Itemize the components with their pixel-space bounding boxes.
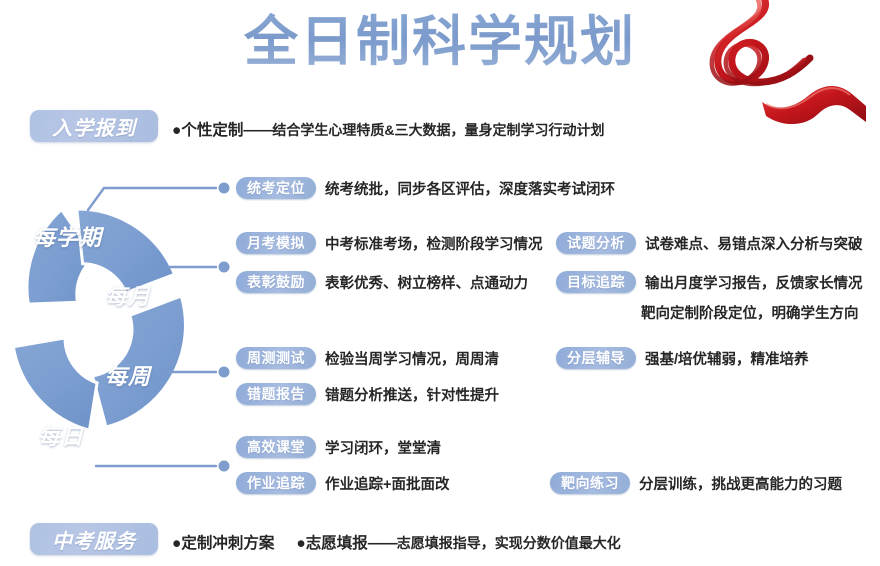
desc-month-right-0: 试卷难点、易错点深入分析与突破	[645, 233, 863, 254]
tag-month-right-0[interactable]: 试题分析	[556, 232, 636, 254]
desc-week-left-0: 检验当周学习情况，周周清	[325, 348, 499, 369]
item-row-month-right-1: 目标追踪 输出月度学习报告，反馈家长情况	[556, 271, 863, 293]
tag-month-left-0[interactable]: 月考模拟	[236, 232, 316, 254]
desc-month-left-1: 表彰优秀、树立榜样、点通动力	[325, 272, 528, 293]
desc-day-left-1: 作业追踪+面批面改	[325, 473, 449, 494]
headline-bottom-item2-title: 志愿填报	[306, 535, 368, 552]
headline-enrollment: ●个性定制——结合学生心理特质&三大数据，量身定制学习行动计划	[172, 118, 605, 140]
tag-semester-0[interactable]: 统考定位	[236, 177, 316, 199]
item-row-month-left-0: 月考模拟 中考标准考场，检测阶段学习情况	[236, 232, 543, 254]
desc-day-left-0: 学习闭环，堂堂清	[325, 437, 441, 458]
item-row-week-left-1: 错题报告 错题分析推送，针对性提升	[236, 383, 499, 405]
item-row-day-left-1: 作业追踪 作业追踪+面批面改	[236, 472, 449, 494]
desc-month-left-0: 中考标准考场，检测阶段学习情况	[325, 233, 543, 254]
badge-exam-service[interactable]: 中考服务	[30, 523, 158, 555]
tag-month-left-1[interactable]: 表彰鼓励	[236, 271, 316, 293]
bullet-glyph: ●	[172, 122, 181, 139]
badge-enrollment[interactable]: 入学报到	[30, 110, 158, 142]
tag-month-right-1[interactable]: 目标追踪	[556, 271, 636, 293]
item-row-day-left-0: 高效课堂 学习闭环，堂堂清	[236, 436, 441, 458]
item-row-day-right-0: 靶向练习 分层训练，挑战更高能力的习题	[550, 472, 842, 494]
tag-day-left-1[interactable]: 作业追踪	[236, 472, 316, 494]
page-title: 全日制科学规划	[0, 6, 880, 78]
arc-label-semester: 每学期	[33, 220, 102, 252]
desc-semester-0: 统考统批，同步各区评估，深度落实考试闭环	[325, 178, 615, 199]
headline-bottom: ●定制冲刺方案●志愿填报——志愿填报指导，实现分数价值最大化	[172, 531, 621, 553]
desc-day-right-0: 分层训练，挑战更高能力的习题	[639, 473, 842, 494]
arc-label-week: 每周	[105, 359, 151, 391]
headline-bottom-item1: 定制冲刺方案	[181, 535, 274, 552]
tag-day-right-0[interactable]: 靶向练习	[550, 472, 630, 494]
desc-month-right-1-line2: 靶向定制阶段定位，明确学生方向	[641, 302, 859, 323]
tag-week-left-0[interactable]: 周测测试	[236, 347, 316, 369]
item-row-week-left-0: 周测测试 检验当周学习情况，周周清	[236, 347, 499, 369]
bullet-glyph-1: ●	[172, 535, 181, 552]
item-row-month-right-0: 试题分析 试卷难点、易错点深入分析与突破	[556, 232, 863, 254]
item-row-month-left-1: 表彰鼓励 表彰优秀、树立榜样、点通动力	[236, 271, 528, 293]
arc-svg	[0, 160, 230, 490]
arc-label-month: 每月	[105, 279, 151, 311]
desc-month-right-1: 输出月度学习报告，反馈家长情况	[645, 272, 863, 293]
desc-week-right-0: 强基/培优辅弱，精准培养	[645, 348, 809, 369]
bullet-glyph-2: ●	[296, 535, 305, 552]
dash-glyph: ——	[243, 122, 272, 139]
headline-bottom-item2-text: 志愿填报指导，实现分数价值最大化	[397, 535, 621, 551]
item-row-semester-0: 统考定位 统考统批，同步各区评估，深度落实考试闭环	[236, 177, 615, 199]
desc-week-left-1: 错题分析推送，针对性提升	[325, 384, 499, 405]
headline-enrollment-title: 个性定制	[181, 122, 243, 139]
headline-enrollment-text: 结合学生心理特质&三大数据，量身定制学习行动计划	[272, 122, 604, 138]
dash-glyph-2: ——	[368, 535, 397, 552]
arc-segment-day[interactable]	[3, 331, 102, 430]
timeline-arc: 每学期 每月 每周 每日	[0, 160, 230, 490]
item-row-week-right-0: 分层辅导 强基/培优辅弱，精准培养	[556, 347, 809, 369]
tag-week-left-1[interactable]: 错题报告	[236, 383, 316, 405]
arc-label-day: 每日	[38, 419, 84, 451]
tag-day-left-0[interactable]: 高效课堂	[236, 436, 316, 458]
tag-week-right-0[interactable]: 分层辅导	[556, 347, 636, 369]
